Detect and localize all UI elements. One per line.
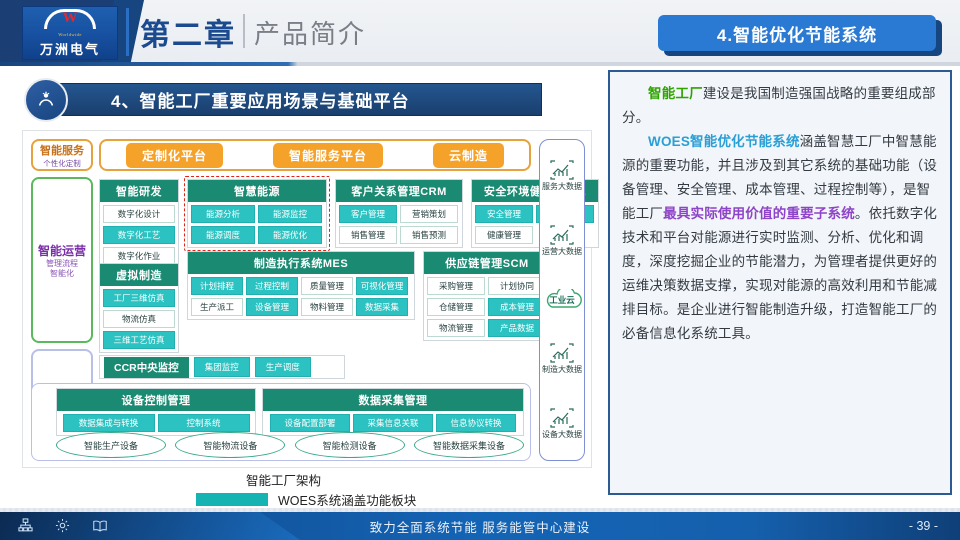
- group-smart-energy: 智慧能源 能源分析 能源监控 能源调度 能源优化: [187, 179, 327, 248]
- group-crm: 客户关系管理CRM 客户管理 营销策划 销售管理 销售预测: [335, 179, 463, 248]
- cell[interactable]: 健康管理: [475, 226, 533, 244]
- cell[interactable]: 过程控制: [246, 277, 298, 295]
- chapter-divider: [243, 14, 245, 48]
- section-title-bar: 4、智能工厂重要应用场景与基础平台: [58, 83, 542, 116]
- paragraph-2-rest: 。依托数字化技术和平台对能源进行实时监测、分析、优化和调度，深度挖掘企业的节能潜…: [622, 206, 937, 341]
- cell[interactable]: 计划协同: [488, 277, 546, 295]
- big-data-label: 制造大数据: [542, 364, 582, 375]
- big-data-label: 运营大数据: [542, 246, 582, 257]
- big-data-manufacturing: 制造大数据: [542, 343, 582, 375]
- cell[interactable]: 计划排程: [191, 277, 243, 295]
- chart-icon: [549, 343, 575, 363]
- highlight-woes: WOES智能优化节能系统: [648, 134, 800, 149]
- cell[interactable]: 信息协议转换: [436, 414, 516, 432]
- big-data-rail: 服务大数据 运营大数据 工业云 制造大数据: [539, 139, 585, 461]
- hand-gear-icon: [24, 78, 68, 122]
- device-item[interactable]: 智能生产设备: [56, 432, 166, 458]
- cell[interactable]: 销售预测: [400, 226, 458, 244]
- legend-swatch: [196, 493, 268, 506]
- ccr-row: CCR中央监控 集团监控 生产调度: [99, 355, 345, 379]
- device-item[interactable]: 智能数据采集设备: [414, 432, 524, 458]
- big-data-label: 服务大数据: [542, 181, 582, 192]
- rail-subtitle: 管理流程智能化: [46, 259, 78, 279]
- group-virtual-manufacturing: 虚拟制造 工厂三维仿真 物流仿真 三维工艺仿真: [99, 263, 179, 353]
- chapter-subtitle: 产品简介: [254, 14, 366, 51]
- description-paragraph-2: WOES智能优化节能系统涵盖智慧工厂中智慧能源的重要功能，并且涉及到其它系统的基…: [622, 130, 938, 346]
- cell[interactable]: 安全管理: [475, 205, 533, 223]
- logo-chinese-text: 万洲电气: [40, 39, 100, 58]
- device-item[interactable]: 智能物流设备: [175, 432, 285, 458]
- logo-arc-icon: W: [44, 9, 96, 31]
- group-header: 客户关系管理CRM: [336, 180, 462, 202]
- cell[interactable]: 采集信息关联: [353, 414, 433, 432]
- big-data-device: 设备大数据: [542, 408, 582, 440]
- cell[interactable]: 数据采集: [356, 298, 408, 316]
- highlight-most-valuable: 最具实际使用价值的重要子系统: [663, 206, 855, 221]
- rail-subtitle: 个性化定制: [43, 158, 81, 169]
- cell[interactable]: 设备配置部署: [270, 414, 350, 432]
- platform-row: 定制化平台 智能服务平台 云制造: [99, 139, 531, 171]
- cell[interactable]: 数字化设计: [103, 205, 175, 223]
- cell[interactable]: 仓储管理: [427, 298, 485, 316]
- ccr-title: CCR中央监控: [104, 357, 189, 378]
- diagram-caption: 智能工厂架构: [246, 470, 321, 489]
- rail-title: 智能运营: [38, 242, 86, 259]
- cell[interactable]: 三维工艺仿真: [103, 331, 175, 349]
- group-header: 设备控制管理: [57, 389, 255, 411]
- architecture-middle-area: 智能研发 数字化设计 数字化工艺 数字化作业 虚拟制造 工厂三维仿真 物流仿真 …: [99, 179, 531, 351]
- cell[interactable]: 生产派工: [191, 298, 243, 316]
- topic-tab-body[interactable]: 4.智能优化节能系统: [658, 15, 936, 51]
- footer-slogan: 致力全面系统节能 服务能管中心建设: [0, 512, 960, 540]
- cell[interactable]: 物流仿真: [103, 310, 175, 328]
- cell[interactable]: 营销策划: [400, 205, 458, 223]
- platform-custom[interactable]: 定制化平台: [126, 143, 223, 168]
- header-separator: [126, 8, 129, 56]
- cell[interactable]: 数字化工艺: [103, 226, 175, 244]
- page-number: - 39 -: [909, 512, 938, 540]
- group-header: 数据采集管理: [263, 389, 523, 411]
- chart-icon: [549, 160, 575, 180]
- description-text: 智能工厂建设是我国制造强国战略的重要组成部分。 WOES智能优化节能系统涵盖智慧…: [622, 82, 938, 346]
- cell[interactable]: 销售管理: [339, 226, 397, 244]
- logo-latin-text: Worldwide: [58, 32, 81, 37]
- device-item[interactable]: 智能检测设备: [295, 432, 405, 458]
- group-header: 供应链管理SCM: [424, 252, 550, 274]
- cell[interactable]: 物料管理: [301, 298, 353, 316]
- topic-tab[interactable]: 4.智能优化节能系统: [658, 15, 942, 53]
- big-data-service: 服务大数据: [542, 160, 582, 192]
- cell[interactable]: 能源优化: [258, 226, 322, 244]
- rail-smart-operation: 智能运营 管理流程智能化: [31, 177, 93, 343]
- group-device-control-management: 设备控制管理 数据集成与转换 控制系统: [56, 388, 256, 436]
- group-header: 智能研发: [100, 180, 178, 202]
- platform-cloud-manufacturing[interactable]: 云制造: [433, 143, 504, 168]
- group-header: 制造执行系统MES: [188, 252, 414, 274]
- rail-smart-service: 智能服务 个性化定制: [31, 139, 93, 171]
- platform-smart-service[interactable]: 智能服务平台: [273, 143, 383, 168]
- slide-header: W Worldwide 万洲电气 第二章 产品简介 4.智能优化节能系统: [0, 0, 960, 66]
- cell[interactable]: 物流管理: [427, 319, 485, 337]
- cell[interactable]: 工厂三维仿真: [103, 289, 175, 307]
- cell[interactable]: 数据集成与转换: [63, 414, 155, 432]
- logo-letter: W: [44, 11, 96, 26]
- chart-icon: [549, 225, 575, 245]
- legend-label: WOES系统涵盖功能板块: [278, 490, 416, 509]
- smart-factory-architecture-diagram: 智能服务 个性化定制 智能运营 管理流程智能化 智能车间 设备智能化 定制化平台…: [22, 130, 592, 468]
- industrial-cloud-label: 工业云: [549, 294, 575, 306]
- header-underline: [0, 62, 960, 66]
- device-ellipse-row: 智能生产设备 智能物流设备 智能检测设备 智能数据采集设备: [56, 432, 524, 458]
- cell[interactable]: 采购管理: [427, 277, 485, 295]
- section-title-text: 4、智能工厂重要应用场景与基础平台: [111, 87, 409, 112]
- workshop-zone: 设备控制管理 数据集成与转换 控制系统 数据采集管理 设备配置部署 采集信息关联…: [31, 383, 531, 461]
- cell[interactable]: 成本管理: [488, 298, 546, 316]
- group-data-acquisition-management: 数据采集管理 设备配置部署 采集信息关联 信息协议转换: [262, 388, 524, 436]
- ccr-cell[interactable]: 集团监控: [194, 357, 250, 377]
- big-data-label: 设备大数据: [542, 429, 582, 440]
- company-logo: W Worldwide 万洲电气: [22, 6, 118, 60]
- cell[interactable]: 客户管理: [339, 205, 397, 223]
- cell[interactable]: 能源调度: [191, 226, 255, 244]
- cell[interactable]: 设备管理: [246, 298, 298, 316]
- chapter-title: 第二章: [140, 10, 236, 54]
- description-panel: 智能工厂建设是我国制造强国战略的重要组成部分。 WOES智能优化节能系统涵盖智慧…: [608, 70, 952, 495]
- cell[interactable]: 能源分析: [191, 205, 255, 223]
- cell[interactable]: 能源监控: [258, 205, 322, 223]
- topic-tab-label: 4.智能优化节能系统: [717, 21, 877, 46]
- group-smart-rnd: 智能研发 数字化设计 数字化工艺 数字化作业: [99, 179, 179, 269]
- group-header: 虚拟制造: [100, 264, 178, 286]
- slide-footer: 致力全面系统节能 服务能管中心建设 - 39 -: [0, 512, 960, 540]
- cell[interactable]: 质量管理: [301, 277, 353, 295]
- ccr-cell[interactable]: 生产调度: [255, 357, 311, 377]
- group-header: 智慧能源: [188, 180, 326, 202]
- cell[interactable]: 产品数据: [488, 319, 546, 337]
- highlight-smart-factory: 智能工厂: [648, 86, 703, 101]
- group-scm: 供应链管理SCM 采购管理 计划协同 仓储管理 成本管理 物流管理 产品数据: [423, 251, 551, 341]
- industrial-cloud-icon: 工业云: [542, 289, 582, 311]
- rail-title: 智能服务: [40, 142, 84, 158]
- group-mes: 制造执行系统MES 计划排程 过程控制 质量管理 可视化管理 生产派工 设备管理…: [187, 251, 415, 320]
- big-data-operation: 运营大数据: [542, 225, 582, 257]
- chart-icon: [549, 408, 575, 428]
- description-paragraph-1: 智能工厂建设是我国制造强国战略的重要组成部分。: [622, 82, 938, 130]
- cell[interactable]: 可视化管理: [356, 277, 408, 295]
- cell[interactable]: 控制系统: [158, 414, 250, 432]
